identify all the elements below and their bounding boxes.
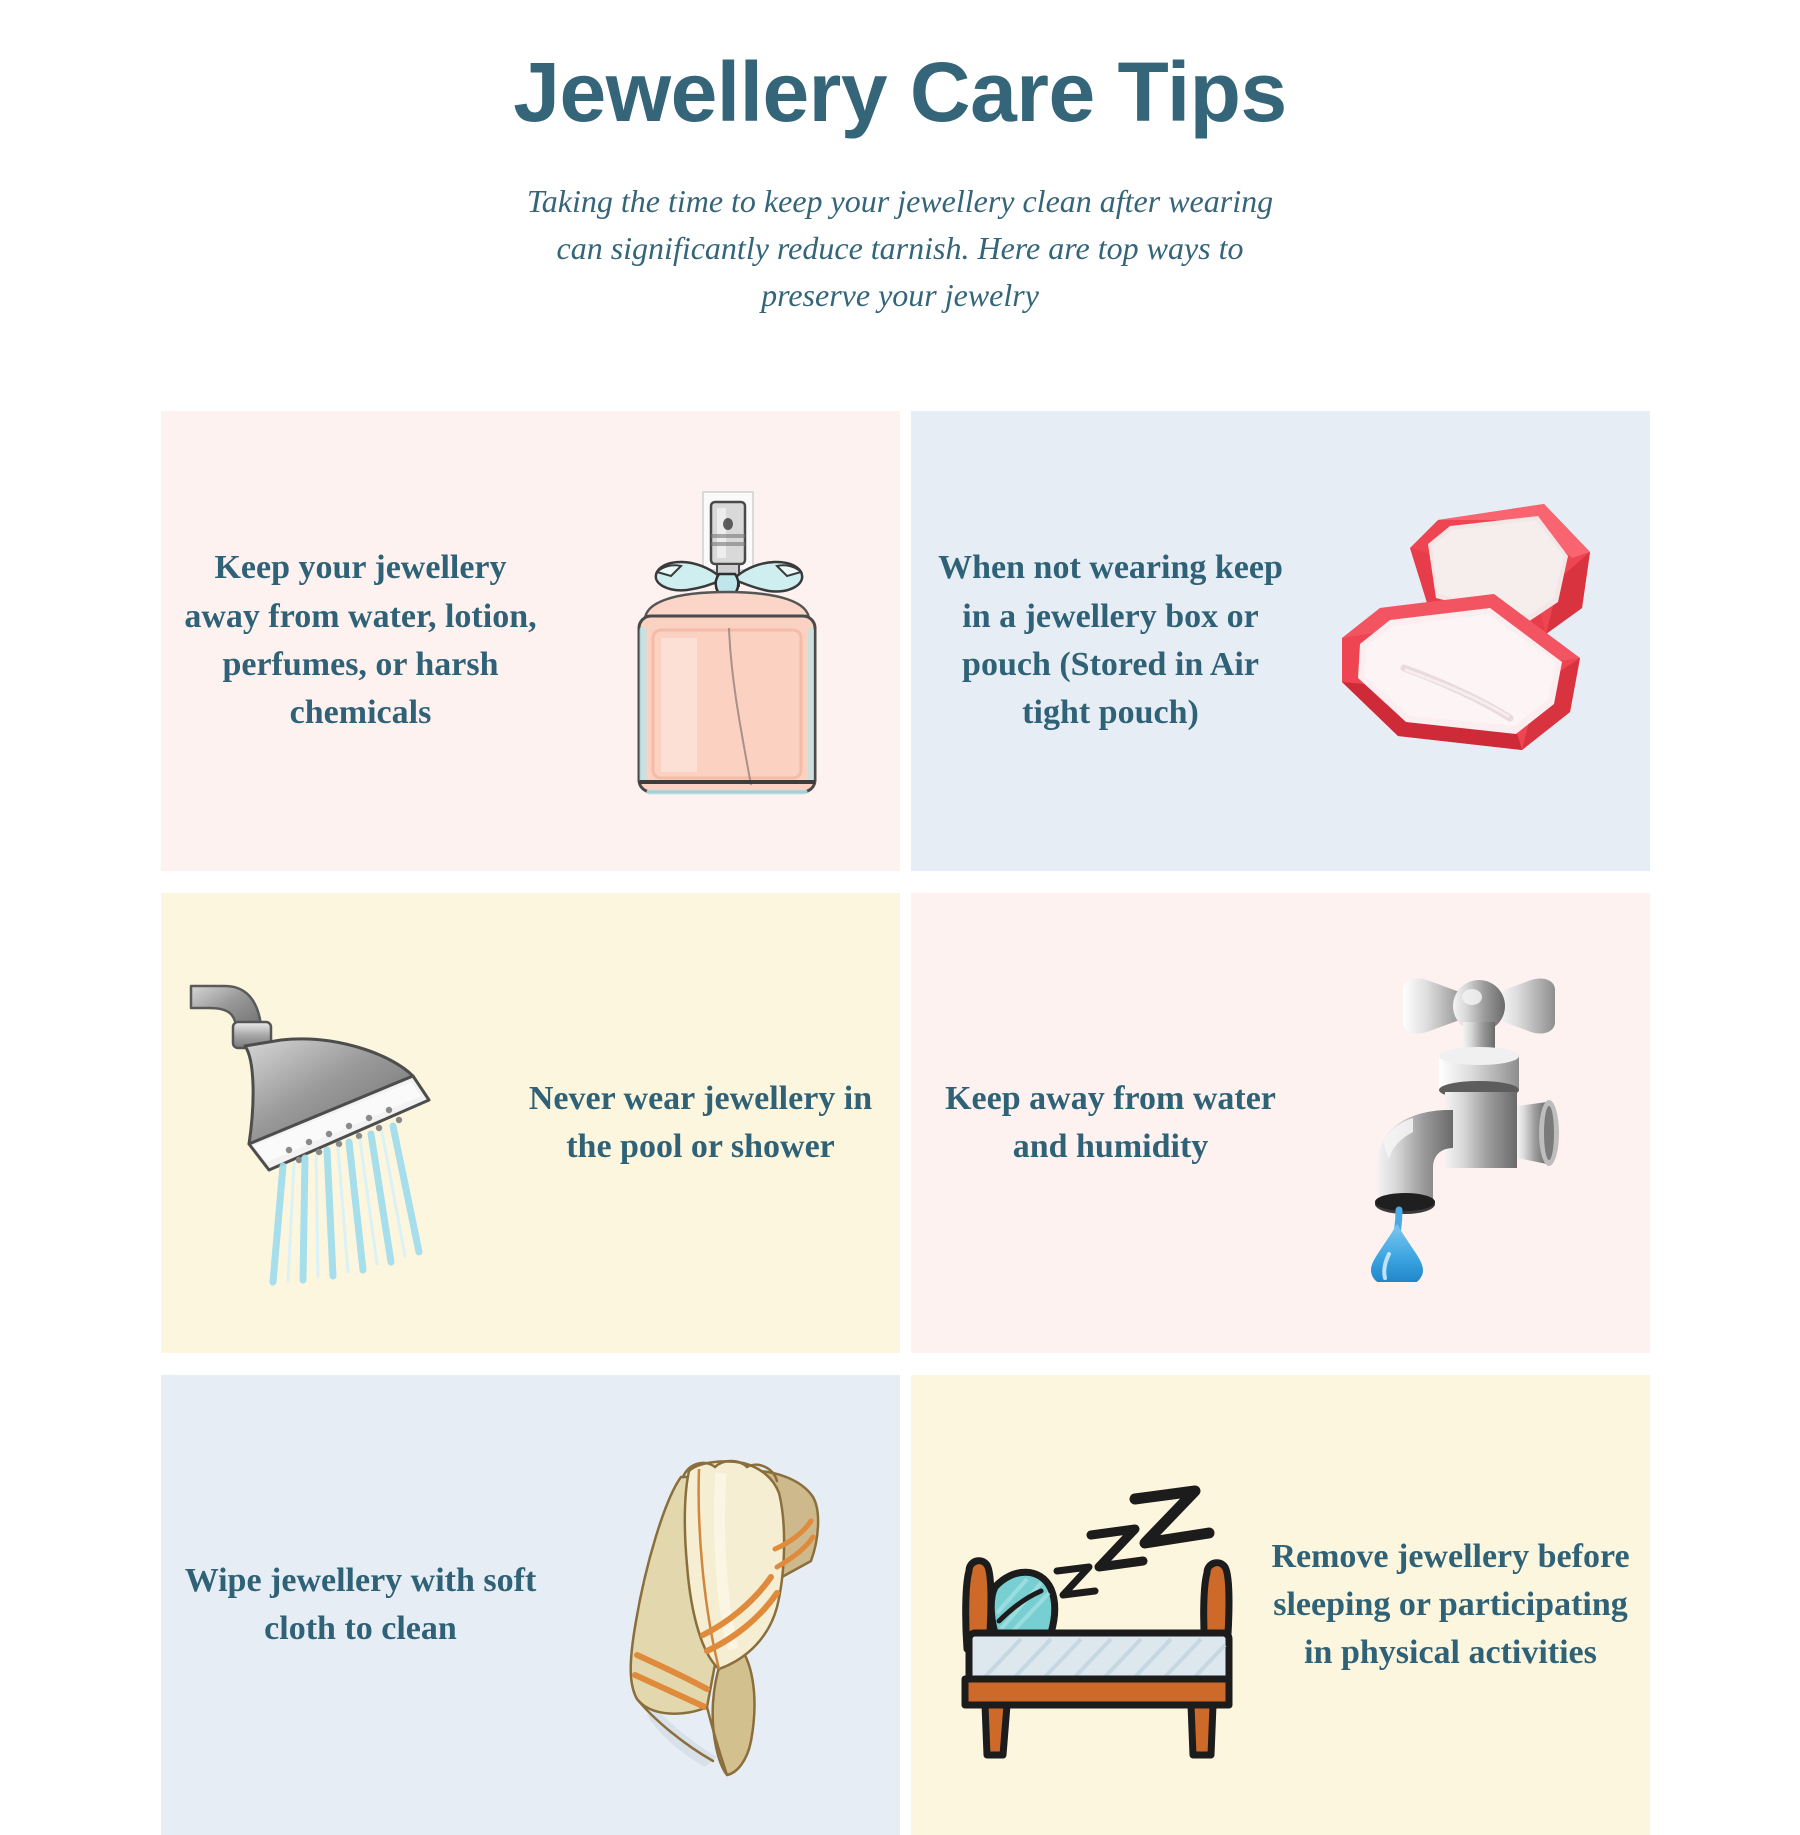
tip-card-text: Wipe jewellery with soft cloth to clean: [173, 1557, 548, 1654]
tip-card-store-in-box-or-pouch: When not wearing keep in a jewellery box…: [911, 411, 1650, 871]
faucet-icon: [1316, 917, 1650, 1317]
shower-head-icon: [165, 929, 505, 1329]
tip-card-away-from-water-humidity: Keep away from water and humidity: [911, 893, 1650, 1353]
soft-cloth-icon: [558, 1415, 898, 1815]
tip-card-text: Keep away from water and humidity: [923, 1075, 1298, 1172]
tip-card-no-pool-or-shower: Never wear jewellery in the pool or show…: [161, 893, 900, 1353]
tip-card-text: Remove jewellery before sleeping or part…: [1263, 1533, 1638, 1678]
page-subtitle: Taking the time to keep your jewellery c…: [500, 178, 1300, 318]
tips-grid: Keep your jewellery away from water, lot…: [161, 411, 1650, 1835]
bed-sleeping-icon: [919, 1411, 1259, 1811]
tip-card-remove-before-sleeping: Remove jewellery before sleeping or part…: [911, 1375, 1650, 1835]
tip-card-away-from-chemicals: Keep your jewellery away from water, lot…: [161, 411, 900, 871]
page-header: Jewellery Care Tips Taking the time to k…: [0, 0, 1800, 318]
ring-box-icon: [1312, 431, 1650, 831]
tip-card-text: When not wearing keep in a jewellery box…: [923, 544, 1298, 737]
tip-card-text: Keep your jewellery away from water, lot…: [173, 544, 548, 737]
tip-card-text: Never wear jewellery in the pool or show…: [513, 1075, 888, 1172]
page-title: Jewellery Care Tips: [0, 30, 1800, 136]
perfume-bottle-icon: [556, 445, 896, 845]
tip-card-wipe-with-soft-cloth: Wipe jewellery with soft cloth to clean: [161, 1375, 900, 1835]
